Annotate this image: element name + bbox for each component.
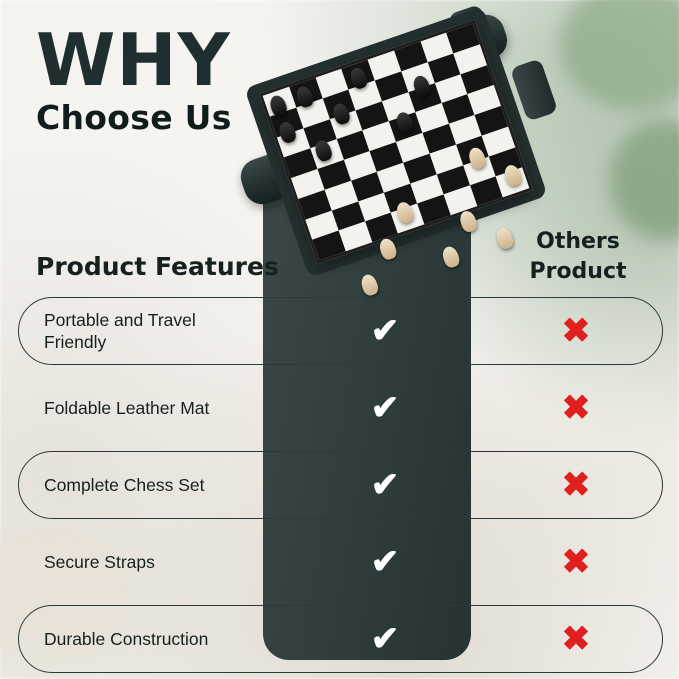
check-icon: ✔: [345, 451, 425, 519]
check-icon: ✔: [345, 374, 425, 442]
table-row: Foldable Leather Mat✔✖: [18, 374, 663, 442]
cross-icon: ✖: [536, 528, 616, 596]
comparison-infographic: WHY Choose Us Product Features Others Pr…: [0, 0, 679, 679]
headline-choose-us: Choose Us: [36, 98, 232, 138]
table-row: Complete Chess Set✔✖: [18, 451, 663, 519]
headline: WHY Choose Us: [36, 22, 232, 138]
cross-icon: ✖: [536, 297, 616, 365]
check-icon: ✔: [345, 297, 425, 365]
column-header-others-line1: Others: [508, 227, 648, 257]
chess-board: [259, 20, 533, 264]
table-row: Portable and Travel Friendly✔✖: [18, 297, 663, 365]
feature-label: Foldable Leather Mat: [44, 374, 259, 442]
feature-label: Durable Construction: [44, 605, 259, 673]
column-header-others-line2: Product: [508, 257, 648, 287]
feature-label: Complete Chess Set: [44, 451, 259, 519]
cross-icon: ✖: [536, 451, 616, 519]
feature-label: Secure Straps: [44, 528, 259, 596]
table-row: Durable Construction✔✖: [18, 605, 663, 673]
column-header-others-product: Others Product: [508, 227, 648, 287]
column-header-product-features: Product Features: [36, 252, 279, 281]
table-row: Secure Straps✔✖: [18, 528, 663, 596]
cross-icon: ✖: [536, 605, 616, 673]
check-icon: ✔: [345, 528, 425, 596]
cross-icon: ✖: [536, 374, 616, 442]
headline-why: WHY: [36, 22, 232, 98]
comparison-rows: Portable and Travel Friendly✔✖Foldable L…: [18, 297, 663, 679]
feature-label: Portable and Travel Friendly: [44, 297, 259, 365]
chess-piece: [440, 245, 461, 270]
check-icon: ✔: [345, 605, 425, 673]
